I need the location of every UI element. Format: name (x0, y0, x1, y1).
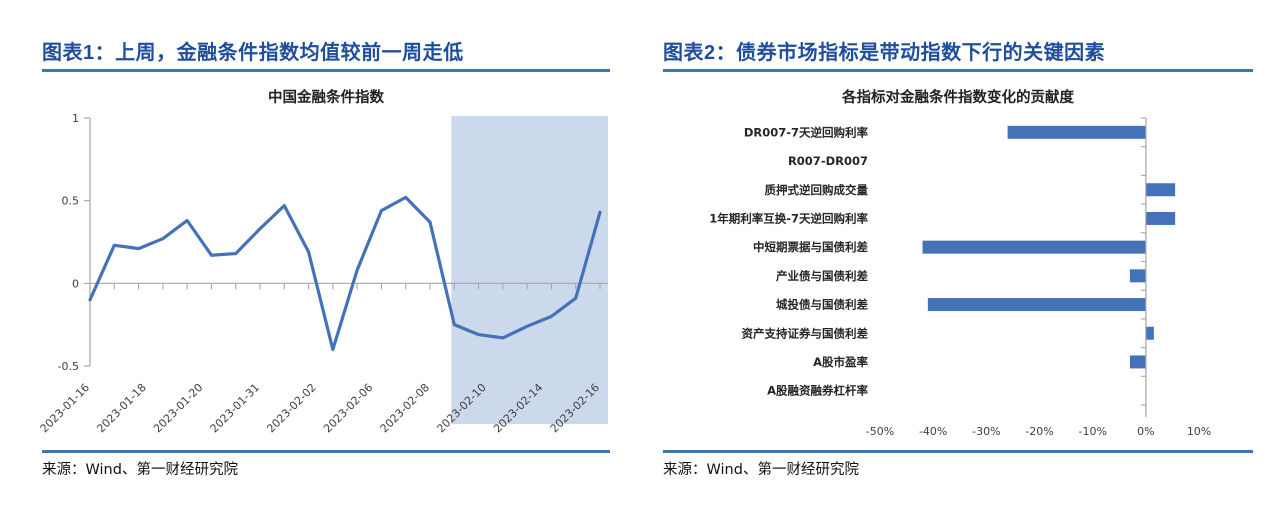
figure-2-subtitle: 各指标对金融条件指数变化的贡献度 (663, 86, 1253, 107)
bar-category-label: A股融资融券杠杆率 (767, 384, 868, 398)
x-tick-label: 2023-02-02 (264, 381, 318, 435)
bar-category-label: 质押式逆回购成交量 (765, 183, 869, 197)
bar (1130, 355, 1146, 368)
indicator-contribution-bar-chart: DR007-7天逆回购利率R007-DR007质押式逆回购成交量1年期利率互换-… (655, 110, 1255, 450)
figure-1-footer-rule (42, 450, 610, 453)
report-page: 图表1：上周，金融条件指数均值较前一周走低 中国金融条件指数 -0.500.51… (0, 0, 1270, 521)
x-tick-label: 2023-02-08 (378, 381, 432, 435)
bar-category-label: 中短期票据与国债利差 (753, 240, 868, 254)
y-tick-label: -0.5 (58, 360, 79, 373)
x-tick-label: 2023-02-06 (321, 381, 375, 435)
bar-category-label: 产业债与国债利差 (776, 269, 868, 283)
bar (1146, 212, 1175, 225)
figure-1-panel: 图表1：上周，金融条件指数均值较前一周走低 中国金融条件指数 -0.500.51… (0, 0, 640, 521)
x-tick-label: 0% (1137, 425, 1154, 438)
x-tick-label: -50% (866, 425, 894, 438)
bar-category-label: 1年期利率互换-7天逆回购利率 (709, 211, 868, 225)
x-tick-label: -30% (972, 425, 1000, 438)
x-tick-label: 2023-01-20 (151, 381, 205, 435)
figure-1-title: 图表1：上周，金融条件指数均值较前一周走低 (42, 36, 464, 65)
figure-2-source: 来源：Wind、第一财经研究院 (663, 458, 859, 479)
y-tick-label: 1 (72, 112, 79, 125)
x-tick-label: 10% (1187, 425, 1211, 438)
bar (1008, 126, 1146, 139)
figure-2-title-rule (663, 69, 1253, 72)
bar (1146, 183, 1175, 196)
bar-category-label: DR007-7天逆回购利率 (744, 125, 869, 139)
y-tick-label: 0.5 (62, 195, 80, 208)
x-tick-label: 2023-01-16 (38, 381, 92, 435)
x-tick-label: -40% (919, 425, 947, 438)
bar-category-label: 资产支持证券与国债利差 (742, 326, 869, 340)
bar-category-label: A股市盈率 (813, 355, 868, 369)
figure-1-source: 来源：Wind、第一财经研究院 (42, 458, 238, 479)
x-tick-label: 2023-01-18 (94, 381, 148, 435)
x-tick-label: -20% (1025, 425, 1053, 438)
figure-2-footer-rule (663, 450, 1253, 453)
bar-category-label: R007-DR007 (788, 154, 868, 168)
figure-2-title: 图表2：债券市场指标是带动指数下行的关键因素 (663, 36, 1105, 65)
x-tick-label: -10% (1078, 425, 1106, 438)
bar (923, 241, 1146, 254)
figure-1-subtitle: 中国金融条件指数 (42, 86, 610, 107)
x-tick-label: 2023-01-31 (208, 381, 262, 435)
bar-category-label: 城投债与国债利差 (776, 298, 868, 312)
figure-1-title-rule (42, 69, 610, 72)
bar (1146, 327, 1154, 340)
figure-2-panel: 图表2：债券市场指标是带动指数下行的关键因素 各指标对金融条件指数变化的贡献度 … (645, 0, 1270, 521)
china-financial-conditions-line-chart: -0.500.512023-01-162023-01-182023-01-202… (20, 108, 640, 448)
y-tick-label: 0 (72, 277, 79, 290)
bar (1130, 269, 1146, 282)
bar (928, 298, 1146, 311)
